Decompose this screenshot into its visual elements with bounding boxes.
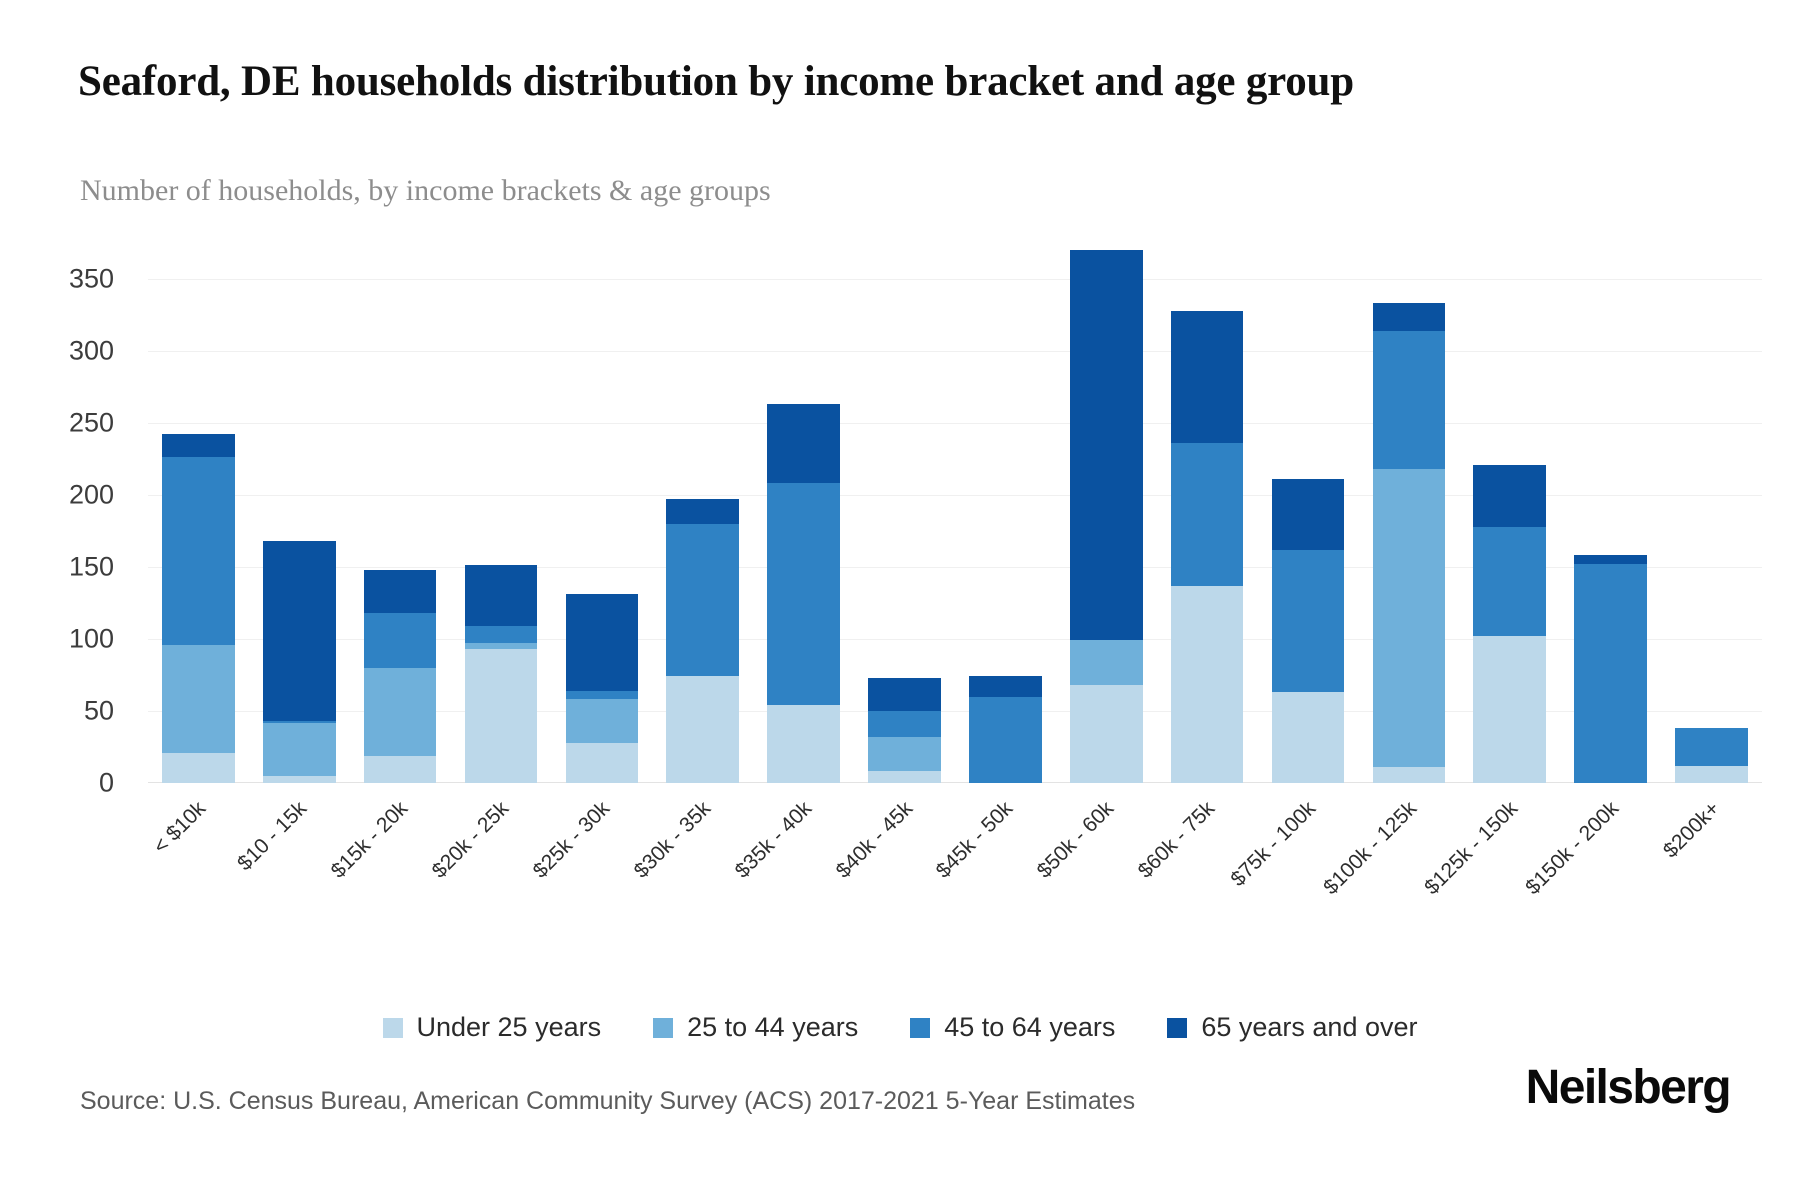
bar-segment[interactable]: [1171, 311, 1244, 444]
y-axis-tick-label: 100: [69, 623, 114, 654]
bar-segment[interactable]: [263, 723, 336, 776]
gridline: [148, 423, 1762, 424]
chart-page: Seaford, DE households distribution by i…: [0, 0, 1800, 1200]
bar-segment[interactable]: [364, 570, 437, 613]
bar-stack[interactable]: [162, 434, 235, 783]
bar-stack[interactable]: [566, 594, 639, 783]
x-axis-tick-label: $125k - 150k: [1420, 797, 1523, 900]
bar-stack[interactable]: [1171, 311, 1244, 783]
bar-segment[interactable]: [566, 594, 639, 691]
bar-segment[interactable]: [162, 645, 235, 753]
bar-stack[interactable]: [1373, 303, 1446, 783]
bar-segment[interactable]: [263, 776, 336, 783]
bar-segment[interactable]: [364, 756, 437, 783]
bar-segment[interactable]: [465, 626, 538, 643]
bar-segment[interactable]: [162, 434, 235, 457]
x-axis-tick-label: $60k - 75k: [1134, 797, 1220, 883]
bar-stack[interactable]: [263, 541, 336, 783]
bar-segment[interactable]: [767, 705, 840, 783]
chart-legend: Under 25 years25 to 44 years45 to 64 yea…: [0, 1012, 1800, 1043]
chart-subtitle: Number of households, by income brackets…: [80, 174, 771, 208]
bar-segment[interactable]: [1473, 636, 1546, 783]
bar-stack[interactable]: [868, 678, 941, 783]
bar-segment[interactable]: [566, 691, 639, 700]
bar-segment[interactable]: [1272, 479, 1345, 550]
y-axis-tick-label: 250: [69, 407, 114, 438]
bar-segment[interactable]: [1373, 469, 1446, 767]
bar-segment[interactable]: [868, 771, 941, 783]
bar-segment[interactable]: [767, 483, 840, 705]
gridline: [148, 351, 1762, 352]
legend-item[interactable]: Under 25 years: [383, 1012, 602, 1043]
bar-stack[interactable]: [1473, 465, 1546, 783]
bar-segment[interactable]: [1171, 443, 1244, 586]
x-axis-tick-label: $100k - 125k: [1319, 797, 1422, 900]
bar-segment[interactable]: [162, 753, 235, 783]
bar-stack[interactable]: [1675, 728, 1748, 783]
bar-segment[interactable]: [263, 721, 336, 722]
bar-segment[interactable]: [465, 649, 538, 783]
bar-segment[interactable]: [1070, 250, 1143, 640]
bar-segment[interactable]: [1272, 692, 1345, 783]
bar-segment[interactable]: [1574, 555, 1647, 564]
x-axis-tick-label: $200k+: [1658, 797, 1724, 863]
bar-segment[interactable]: [969, 697, 1042, 783]
bar-segment[interactable]: [364, 613, 437, 668]
bar-segment[interactable]: [1473, 465, 1546, 527]
legend-swatch-icon: [910, 1018, 930, 1038]
bar-segment[interactable]: [1272, 550, 1345, 693]
y-axis-labels: 050100150200250300350: [0, 250, 130, 783]
x-axis-tick-label: $40k - 45k: [831, 797, 917, 883]
y-axis-tick-label: 150: [69, 551, 114, 582]
bar-stack[interactable]: [666, 499, 739, 783]
bar-stack[interactable]: [1574, 555, 1647, 783]
bar-stack[interactable]: [767, 404, 840, 783]
bar-segment[interactable]: [666, 524, 739, 677]
bar-segment[interactable]: [263, 541, 336, 721]
bar-stack[interactable]: [969, 676, 1042, 783]
x-axis-tick-label: $25k - 30k: [529, 797, 615, 883]
legend-label: Under 25 years: [417, 1012, 602, 1043]
bar-stack[interactable]: [465, 565, 538, 783]
x-axis-tick-label: $75k - 100k: [1226, 797, 1321, 892]
x-axis-tick-label: $150k - 200k: [1521, 797, 1624, 900]
bar-segment[interactable]: [1675, 728, 1748, 765]
bar-segment[interactable]: [868, 737, 941, 772]
x-axis-tick-label: $35k - 40k: [730, 797, 816, 883]
x-axis-tick-label: < $10k: [149, 797, 211, 859]
bar-segment[interactable]: [162, 457, 235, 644]
bar-segment[interactable]: [1675, 766, 1748, 783]
source-note: Source: U.S. Census Bureau, American Com…: [80, 1087, 1135, 1116]
y-axis-tick-label: 50: [84, 695, 114, 726]
x-axis-tick-label: $15k - 20k: [327, 797, 413, 883]
bar-segment[interactable]: [868, 678, 941, 711]
brand-logo: Neilsberg: [1526, 1060, 1730, 1115]
legend-swatch-icon: [653, 1018, 673, 1038]
x-axis-tick-label: $20k - 25k: [428, 797, 514, 883]
y-axis-tick-label: 350: [69, 263, 114, 294]
x-axis-tick-label: $30k - 35k: [629, 797, 715, 883]
bar-segment[interactable]: [1373, 303, 1446, 330]
x-axis-tick-label: $45k - 50k: [932, 797, 1018, 883]
bar-segment[interactable]: [1070, 640, 1143, 685]
bar-segment[interactable]: [364, 668, 437, 756]
legend-item[interactable]: 45 to 64 years: [910, 1012, 1115, 1043]
bar-segment[interactable]: [969, 676, 1042, 696]
bar-stack[interactable]: [1272, 479, 1345, 783]
gridline: [148, 279, 1762, 280]
legend-label: 25 to 44 years: [687, 1012, 858, 1043]
x-axis-tick-label: $50k - 60k: [1033, 797, 1119, 883]
bar-segment[interactable]: [666, 499, 739, 523]
plot-area: [148, 250, 1762, 783]
bar-segment[interactable]: [767, 404, 840, 483]
y-axis-tick-label: 300: [69, 335, 114, 366]
page-title: Seaford, DE households distribution by i…: [78, 52, 1558, 111]
bar-segment[interactable]: [666, 676, 739, 783]
bar-segment[interactable]: [566, 699, 639, 742]
legend-label: 45 to 64 years: [944, 1012, 1115, 1043]
bar-segment[interactable]: [465, 643, 538, 649]
bar-segment[interactable]: [1070, 685, 1143, 783]
legend-item[interactable]: 65 years and over: [1167, 1012, 1417, 1043]
bar-segment[interactable]: [1574, 564, 1647, 783]
legend-item[interactable]: 25 to 44 years: [653, 1012, 858, 1043]
bar-segment[interactable]: [465, 565, 538, 626]
bar-stack[interactable]: [1070, 250, 1143, 783]
y-axis-tick-label: 0: [99, 768, 114, 799]
bar-segment[interactable]: [1473, 527, 1546, 636]
bar-segment[interactable]: [1373, 331, 1446, 469]
x-axis-tick-label: $10 - 15k: [233, 797, 312, 876]
bar-segment[interactable]: [1171, 586, 1244, 783]
y-axis-tick-label: 200: [69, 479, 114, 510]
x-axis-labels: < $10k$10 - 15k$15k - 20k$20k - 25k$25k …: [148, 783, 1762, 943]
bar-segment[interactable]: [566, 743, 639, 783]
bar-segment[interactable]: [1373, 767, 1446, 783]
legend-label: 65 years and over: [1201, 1012, 1417, 1043]
legend-swatch-icon: [1167, 1018, 1187, 1038]
legend-swatch-icon: [383, 1018, 403, 1038]
bar-segment[interactable]: [868, 711, 941, 737]
bar-stack[interactable]: [364, 570, 437, 783]
